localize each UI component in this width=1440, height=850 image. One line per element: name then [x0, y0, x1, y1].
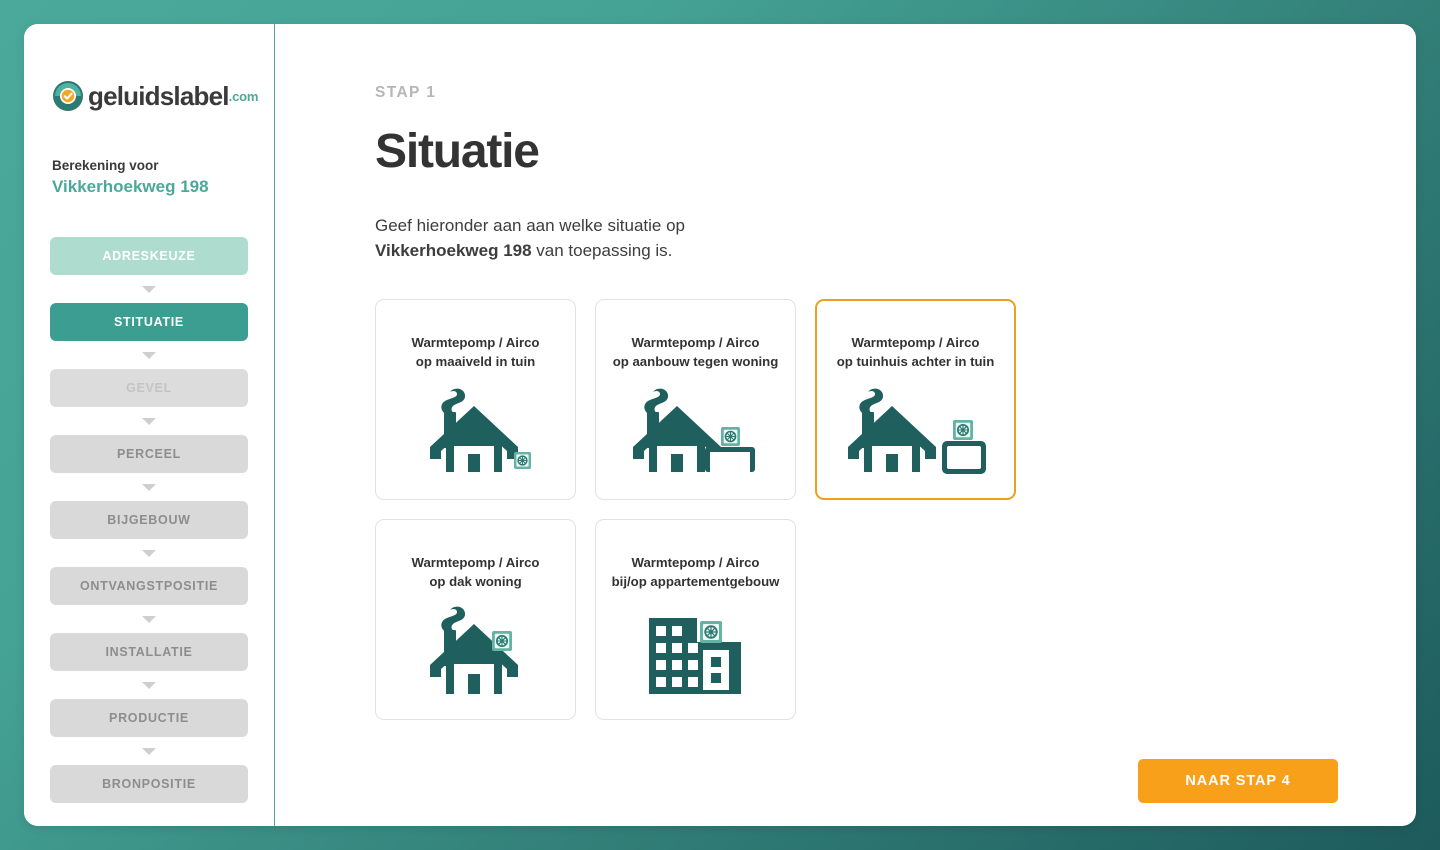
step-connector-chevron-down-icon [50, 407, 248, 435]
house-with-extension-unit-icon [596, 371, 795, 500]
situation-option-label-line2: op maaiveld in tuin [416, 354, 535, 369]
situation-option-label: Warmtepomp / Aircoop tuinhuis achter in … [829, 334, 1003, 370]
step-navigation: ADRESKEUZESTITUATIEGEVELPERCEELBIJGEBOUW… [24, 237, 274, 803]
situation-option-card[interactable]: Warmtepomp / Aircoop maaiveld in tuin [375, 299, 576, 500]
situation-option-label: Warmtepomp / Aircobij/op appartementgebo… [604, 554, 788, 590]
apartment-building-unit-icon [596, 591, 795, 720]
page-intro-prefix: Geef hieronder aan aan welke situatie op [375, 216, 685, 235]
situation-option-label-line1: Warmtepomp / Airco [852, 335, 980, 350]
calculation-address: Vikkerhoekweg 198 [52, 176, 274, 199]
step-connector-chevron-down-icon [50, 671, 248, 699]
calculation-for-label: Berekening voor [52, 157, 274, 175]
situation-option-card[interactable]: Warmtepomp / Aircoop dak woning [375, 519, 576, 720]
situation-option-grid: Warmtepomp / Aircoop maaiveld in tuin Wa… [375, 299, 1020, 720]
next-step-button[interactable]: NAAR STAP 4 [1138, 759, 1338, 803]
geluidslabel-checkmark-logo-icon [52, 80, 84, 112]
sidebar-step-installatie: INSTALLATIE [50, 633, 248, 671]
situation-option-label-line2: op tuinhuis achter in tuin [837, 354, 995, 369]
situation-option-label-line1: Warmtepomp / Airco [632, 335, 760, 350]
step-connector-chevron-down-icon [50, 539, 248, 567]
brand-name: geluidslabel [88, 83, 229, 109]
sidebar-step-stituatie[interactable]: STITUATIE [50, 303, 248, 341]
step-connector-chevron-down-icon [50, 473, 248, 501]
sidebar-step-adreskeuze[interactable]: ADRESKEUZE [50, 237, 248, 275]
step-connector-chevron-down-icon [50, 605, 248, 633]
calculation-context: Berekening voor Vikkerhoekweg 198 [52, 157, 274, 199]
situation-option-card[interactable]: Warmtepomp / Aircoop tuinhuis achter in … [815, 299, 1016, 500]
situation-option-label: Warmtepomp / Aircoop maaiveld in tuin [404, 334, 548, 370]
house-with-garden-shed-unit-icon [817, 371, 1014, 499]
situation-option-label-line2: op dak woning [429, 574, 521, 589]
step-connector-chevron-down-icon [50, 737, 248, 765]
step-eyebrow: STAP 1 [375, 84, 1416, 102]
situation-option-card[interactable]: Warmtepomp / Aircobij/op appartementgebo… [595, 519, 796, 720]
sidebar-step-ontvangstpositie: ONTVANGSTPOSITIE [50, 567, 248, 605]
sidebar-step-productie: PRODUCTIE [50, 699, 248, 737]
situation-option-label: Warmtepomp / Aircoop dak woning [404, 554, 548, 590]
situation-option-label-line2: op aanbouw tegen woning [613, 354, 779, 369]
app-window: geluidslabel .com Berekening voor Vikker… [24, 24, 1416, 826]
page-intro-address: Vikkerhoekweg 198 [375, 241, 532, 260]
page-title: Situatie [375, 128, 1416, 176]
sidebar-step-gevel: GEVEL [50, 369, 248, 407]
main-content: STAP 1 Situatie Geef hieronder aan aan w… [275, 24, 1416, 826]
sidebar-step-bijgebouw: BIJGEBOUW [50, 501, 248, 539]
page-intro: Geef hieronder aan aan welke situatie op… [375, 214, 835, 263]
step-connector-chevron-down-icon [50, 341, 248, 369]
brand-tld: .com [229, 89, 259, 104]
situation-option-card[interactable]: Warmtepomp / Aircoop aanbouw tegen wonin… [595, 299, 796, 500]
sidebar: geluidslabel .com Berekening voor Vikker… [24, 24, 275, 826]
house-with-ground-unit-icon [376, 371, 575, 500]
situation-option-label-line1: Warmtepomp / Airco [632, 555, 760, 570]
page-intro-suffix: van toepassing is. [532, 241, 673, 260]
sidebar-step-perceel: PERCEEL [50, 435, 248, 473]
situation-option-label-line2: bij/op appartementgebouw [612, 574, 780, 589]
situation-option-label-line1: Warmtepomp / Airco [412, 555, 540, 570]
situation-option-label-line1: Warmtepomp / Airco [412, 335, 540, 350]
brand-logo[interactable]: geluidslabel .com [52, 79, 274, 113]
house-with-roof-unit-icon [376, 591, 575, 720]
step-connector-chevron-down-icon [50, 275, 248, 303]
sidebar-step-bronpositie: BRONPOSITIE [50, 765, 248, 803]
situation-option-label: Warmtepomp / Aircoop aanbouw tegen wonin… [605, 334, 787, 370]
